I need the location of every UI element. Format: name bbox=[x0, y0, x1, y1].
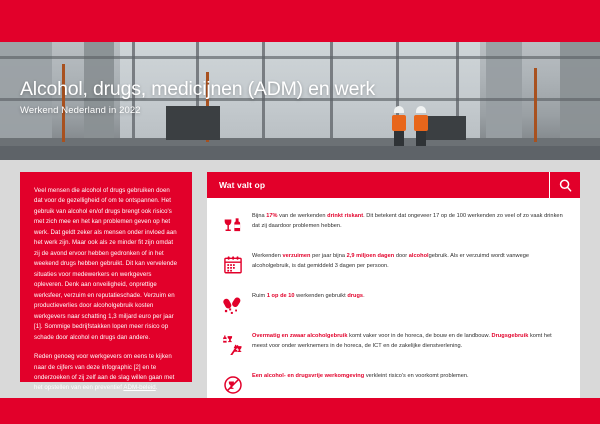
fact-row: Ruim 1 op de 10 werkenden gebruikt drugs… bbox=[207, 285, 580, 325]
fact-highlight: 17% bbox=[266, 213, 277, 219]
fact-highlight: drugs bbox=[347, 293, 363, 299]
wine-glass-bottle-icon bbox=[217, 210, 249, 240]
fact-highlight: verzuimen bbox=[282, 253, 310, 259]
fact-row: Bijna 17% van de werkenden drinkt riskan… bbox=[207, 205, 580, 245]
photo-worker-legs bbox=[394, 131, 404, 146]
footer-red-bar bbox=[0, 398, 600, 424]
photo-crate-2 bbox=[424, 116, 466, 140]
adm-beleid-link[interactable]: ADM-beleid bbox=[123, 384, 155, 391]
intro-paragraph-2-post: . bbox=[156, 384, 158, 391]
photo-worker-vest bbox=[392, 115, 406, 131]
photo-worker-vest bbox=[414, 115, 428, 131]
fact-highlight: alcohol bbox=[409, 253, 429, 259]
fact-row: Overmatig en zwaar alcoholgebruik komt v… bbox=[207, 325, 580, 365]
photo-worker-helmet bbox=[416, 106, 426, 113]
fact-text: Overmatig en zwaar alcoholgebruik komt v… bbox=[249, 330, 566, 352]
photo-worker-helmet bbox=[394, 106, 404, 113]
fact-plain: . bbox=[363, 293, 365, 299]
fact-plain: verkleint risico's en voorkomt problemen… bbox=[364, 373, 468, 379]
facts-header: Wat valt op bbox=[207, 172, 580, 198]
construction-site-photo bbox=[0, 42, 600, 160]
fact-highlight: drinkt riskant bbox=[327, 213, 363, 219]
no-alcohol-icon bbox=[217, 370, 249, 400]
fact-text: Bijna 17% van de werkenden drinkt riskan… bbox=[249, 210, 566, 232]
photo-floor-slab bbox=[0, 138, 600, 146]
photo-crossbeam-top bbox=[0, 56, 600, 59]
header-red-bar bbox=[0, 0, 600, 42]
fact-plain: Ruim bbox=[252, 293, 267, 299]
photo-worker-legs bbox=[416, 131, 426, 146]
photo-worker-right bbox=[414, 106, 428, 146]
fact-highlight: Een alcohol- en drugsvrije werkomgeving bbox=[252, 373, 364, 379]
fact-highlight: 2,9 miljoen dagen bbox=[347, 253, 395, 259]
fact-highlight: 1 op de 10 bbox=[267, 293, 295, 299]
fact-row: Werkenden verzuimen per jaar bijna 2,9 m… bbox=[207, 245, 580, 285]
fact-plain: Bijna bbox=[252, 213, 266, 219]
fact-plain: Werkenden bbox=[252, 253, 282, 259]
photo-ground bbox=[0, 146, 600, 160]
fact-plain: werkenden gebruikt bbox=[295, 293, 348, 299]
fact-plain: door bbox=[394, 253, 409, 259]
percent-alcohol-icon bbox=[217, 330, 249, 360]
photo-rebar-3 bbox=[534, 68, 537, 142]
fact-plain: per jaar bijna bbox=[311, 253, 347, 259]
fact-highlight: Overmatig en zwaar alcoholgebruik bbox=[252, 333, 348, 339]
page-title: Alcohol, drugs, medicijnen (ADM) en werk bbox=[20, 78, 375, 101]
infographic-page: Oktober 2023 Trimbos instituut Alcohol, … bbox=[0, 0, 600, 424]
fact-highlight: Drugsgebruik bbox=[492, 333, 529, 339]
fact-text: Een alcohol- en drugsvrije werkomgeving … bbox=[249, 370, 566, 382]
facts-title: Wat valt op bbox=[207, 172, 549, 198]
photo-rebar-1 bbox=[62, 64, 65, 142]
body-area: Veel mensen die alcohol of drugs gebruik… bbox=[0, 160, 600, 398]
intro-paragraph-1: Veel mensen die alcohol of drugs gebruik… bbox=[34, 186, 178, 343]
facts-panel: Wat valt op Bijna 17% van de werkenden d… bbox=[207, 172, 580, 414]
photo-crate-1 bbox=[166, 106, 220, 140]
fact-plain: van de werkenden bbox=[278, 213, 328, 219]
intro-paragraph-2: Reden genoeg voor werkgevers om eens te … bbox=[34, 352, 178, 394]
photo-worker-left bbox=[392, 106, 406, 146]
pills-icon bbox=[217, 290, 249, 320]
intro-panel: Veel mensen die alcohol of drugs gebruik… bbox=[20, 172, 192, 382]
fact-plain: komt vaker voor in de horeca, de bouw en… bbox=[348, 333, 492, 339]
facts-list: Bijna 17% van de werkenden drinkt riskan… bbox=[207, 198, 580, 414]
fact-text: Werkenden verzuimen per jaar bijna 2,9 m… bbox=[249, 250, 566, 272]
magnifier-icon bbox=[549, 172, 580, 198]
fact-text: Ruim 1 op de 10 werkenden gebruikt drugs… bbox=[249, 290, 566, 302]
page-subtitle: Werkend Nederland in 2022 bbox=[20, 105, 141, 116]
hero-header: Oktober 2023 Trimbos instituut Alcohol, … bbox=[0, 0, 600, 160]
calendar-icon bbox=[217, 250, 249, 280]
